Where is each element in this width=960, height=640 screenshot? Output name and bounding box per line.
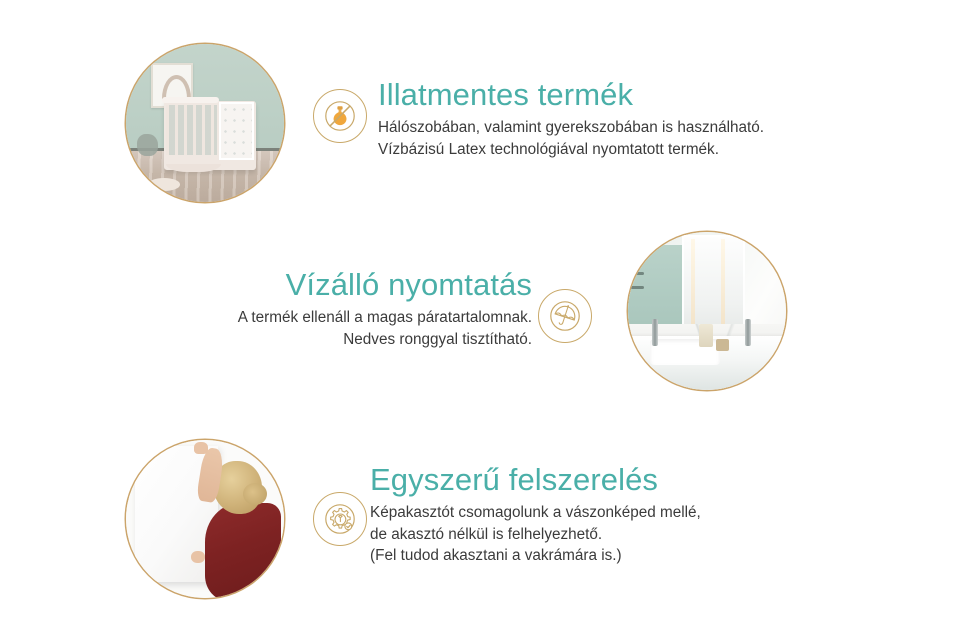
feature-mounting-text: Egyszerű felszerelés Képakasztót csomago… [370, 463, 701, 567]
feature-waterproof-text: Vízálló nyomtatás A termék ellenáll a ma… [108, 268, 532, 350]
crib-bars [166, 105, 217, 155]
bathroom-faucet [745, 319, 751, 346]
feature-mounting-desc-line-2: de akasztó nélkül is felhelyezhető. [370, 524, 701, 546]
woman-hand-lower [191, 551, 205, 564]
woman-hair-bun [243, 483, 267, 505]
nursery-room-photo [126, 44, 284, 202]
feature-fragrance-text: Illatmentes termék Hálószobában, valamin… [378, 78, 764, 160]
hanging-canvas-photo [126, 440, 284, 598]
bathroom-mirror [682, 235, 745, 333]
feature-mounting-desc-line-1: Képakasztót csomagolunk a vászonképed me… [370, 502, 701, 524]
feature-waterproof-desc-line-2: Nedves ronggyal tisztítható. [108, 329, 532, 351]
feature-mounting-desc-line-3: (Fel tudod akasztani a vakrámára is.) [370, 545, 701, 567]
umbrella-icon [538, 289, 592, 343]
nursery-toy [137, 134, 158, 156]
bathroom-shelf [630, 272, 644, 275]
crib-tufted-panel [219, 102, 254, 160]
bathroom-jar [716, 339, 729, 350]
feature-mounting-title: Egyszerű felszerelés [370, 463, 701, 498]
bathroom-photo [628, 232, 786, 390]
woman-burgundy-sweater [205, 503, 281, 598]
bathroom-cabinet [628, 245, 682, 330]
feature-waterproof-desc-line-1: A termék ellenáll a magas páratartalomna… [108, 307, 532, 329]
bathroom-shelf [630, 286, 644, 289]
feature-waterproof-title: Vízálló nyomtatás [108, 268, 532, 303]
bathroom-bottle [699, 324, 713, 348]
crib-top-rail [162, 97, 219, 103]
feature-fragrance-desc-line-1: Hálószobában, valamint gyerekszobában is… [378, 117, 764, 139]
nursery-rug [148, 178, 180, 191]
bathroom-faucet [652, 319, 658, 346]
no-fragrance-bottle-icon [313, 89, 367, 143]
gear-wrench-check-icon [313, 492, 367, 546]
woman-hand-upper [194, 442, 208, 455]
feature-fragrance-title: Illatmentes termék [378, 78, 764, 113]
feature-fragrance-desc-line-2: Vízbázisú Latex technológiával nyomtatot… [378, 139, 764, 161]
baby-crib [164, 101, 256, 171]
feature-infographic: Illatmentes termék Hálószobában, valamin… [0, 0, 960, 640]
